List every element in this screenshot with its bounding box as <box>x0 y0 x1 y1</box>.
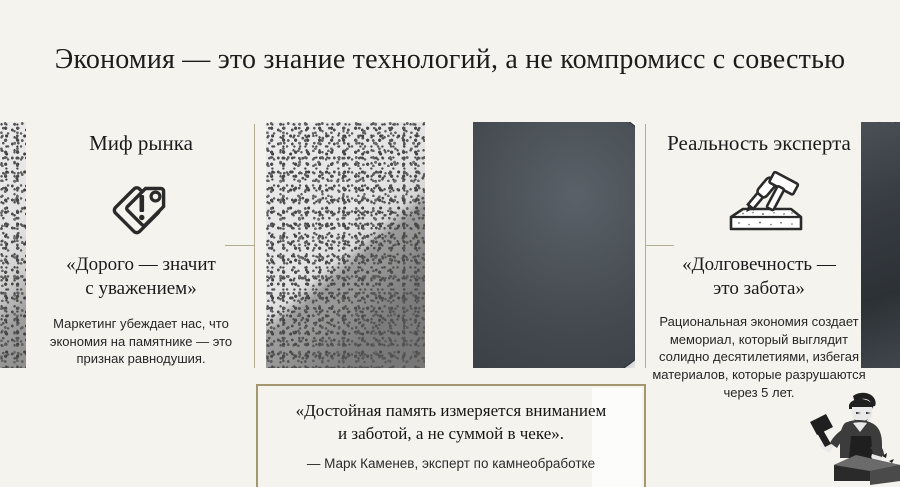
hammer-chisel-stone-icon <box>648 169 870 243</box>
column-expert-quote-line-2: это забота» <box>648 277 870 301</box>
price-tag-exclamation-icon <box>30 169 252 243</box>
divider-line-left <box>254 124 255 368</box>
pull-quote-line-2: и заботой, а не суммой в чеке». <box>258 423 644 446</box>
column-expert: Реальность эксперта <box>648 132 870 402</box>
page-title: Экономия — это знание технологий, а не к… <box>0 44 900 76</box>
column-myth-quote: «Дорого — значит с уважением» <box>30 253 252 301</box>
slate-disc-photo <box>473 122 635 368</box>
column-myth-quote-line-1: «Дорого — значит <box>30 253 252 277</box>
granite-texture <box>266 122 425 368</box>
slide-root: Экономия — это знание технологий, а не к… <box>0 0 900 487</box>
granite-photo-center <box>266 122 425 368</box>
column-myth-heading: Миф рынка <box>30 132 252 155</box>
column-expert-heading: Реальность эксперта <box>648 132 870 155</box>
slate-disc <box>473 122 635 368</box>
granite-texture <box>0 122 26 368</box>
column-expert-quote-line-1: «Долговечность — <box>648 253 870 277</box>
pull-quote-box: «Достойная память измеряется вниманием и… <box>256 384 646 487</box>
column-myth-body: Маркетинг убеждает нас, что экономия на … <box>30 315 252 369</box>
column-myth-quote-line-2: с уважением» <box>30 277 252 301</box>
disc-card-background <box>473 122 635 368</box>
pull-quote-line-1: «Достойная память измеряется вниманием <box>258 400 644 423</box>
stonemason-illustration <box>796 386 900 487</box>
column-myth: Миф рынка «Дорого — значит с уважением» … <box>30 132 252 368</box>
pull-quote-attribution: — Марк Каменев, эксперт по камнеобработк… <box>258 456 644 471</box>
divider-line-right <box>645 124 646 368</box>
granite-strip-left <box>0 122 26 368</box>
column-expert-quote: «Долговечность — это забота» <box>648 253 870 301</box>
